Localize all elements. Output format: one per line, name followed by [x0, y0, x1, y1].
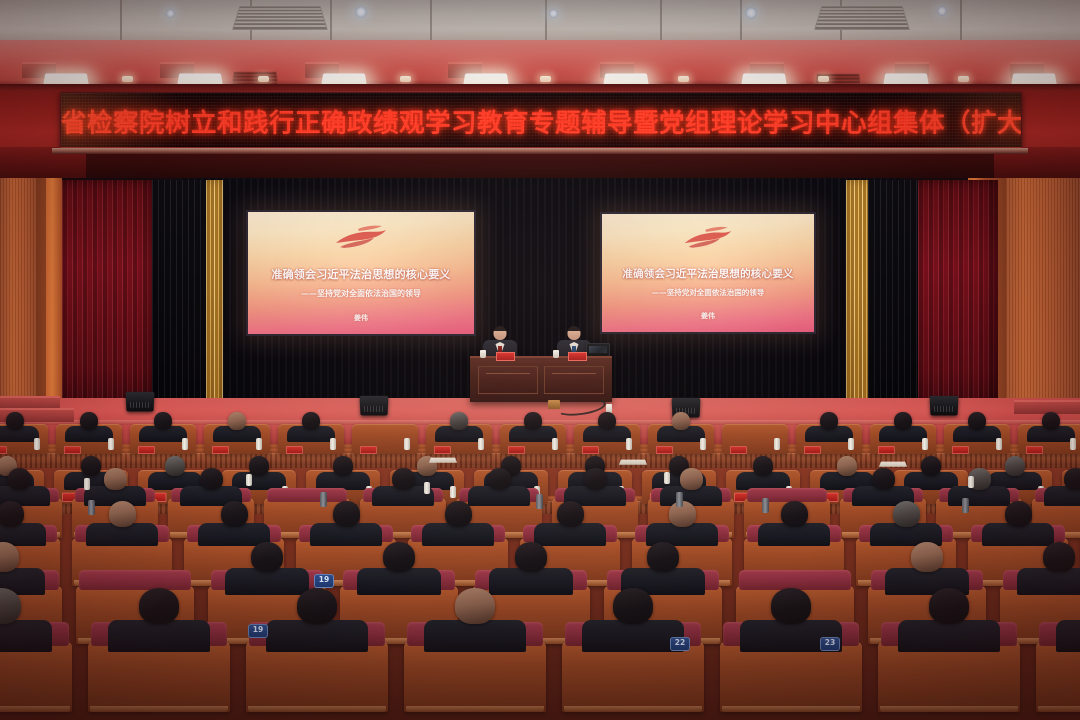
desk-water-cup: [774, 438, 780, 450]
stage-nameplate-left: [496, 352, 515, 361]
attendee-head: [911, 542, 943, 572]
attendee-head: [333, 456, 353, 476]
attendee-head: [445, 501, 472, 527]
attendee-shoulders: [582, 620, 684, 652]
desk-water-cup: [626, 438, 632, 450]
desk-nameplate: [138, 446, 155, 454]
stage-nameplate-right: [568, 352, 587, 361]
attendee-head: [251, 542, 283, 572]
attendee-shoulders: [898, 620, 1000, 652]
chair-cushion: [747, 488, 827, 502]
desk-water-cup: [848, 438, 854, 450]
ceiling-downlight-2: [549, 9, 558, 18]
ceiling-seam-8: [960, 0, 962, 42]
attendee-head: [680, 468, 703, 490]
desk-nameplate: [656, 446, 673, 454]
ceiling-panels: [0, 0, 1080, 42]
ceiling-vent-1: [814, 6, 910, 30]
desk-nameplate: [64, 446, 81, 454]
thermos-0: [320, 492, 327, 507]
thermos-5: [88, 500, 95, 515]
desk-nameplate: [212, 446, 229, 454]
desk-nameplate: [434, 446, 451, 454]
floor-monitor-0: [125, 392, 154, 412]
desk-water-cup: [330, 438, 336, 450]
desk-nameplate: [360, 446, 377, 454]
seat-number-badge: 22: [670, 637, 690, 651]
ceiling-seam-3: [430, 0, 432, 42]
slide-author-left: 姜伟: [248, 313, 474, 323]
desk-papers-1: [619, 460, 647, 465]
desk-nameplate: [508, 446, 525, 454]
water-cup-0: [84, 478, 90, 490]
slide-title-right: 准确领会习近平法治思想的核心要义: [602, 266, 814, 281]
attendee-head: [753, 456, 773, 476]
chair-back: [878, 642, 1020, 712]
attendee-head: [613, 588, 653, 624]
stage-connector-box: [548, 400, 560, 409]
attendee-shoulders: [0, 620, 52, 652]
attendee-head: [1005, 501, 1032, 527]
thermos-3: [762, 498, 769, 513]
attendee-head: [598, 412, 616, 430]
attendee-head: [302, 412, 320, 430]
ceiling-accent-light-3: [540, 76, 551, 82]
led-glow-left: [61, 93, 181, 148]
proscenium-top-trim: [0, 84, 1080, 91]
attendee-shoulders: [1056, 620, 1080, 652]
attendee-head: [297, 588, 337, 624]
desk-water-cup: [922, 438, 928, 450]
chair-top-rail: [880, 706, 1018, 712]
attendee-shoulders: [1017, 568, 1080, 595]
attendee-head: [872, 468, 895, 490]
thermos-2: [676, 492, 683, 507]
podium-front-panel-left: [478, 366, 538, 394]
chair-top-rail: [406, 706, 544, 712]
desk-water-cup: [256, 438, 262, 450]
attendee-head: [1042, 412, 1060, 430]
attendee-head: [221, 501, 248, 527]
red-ribbon-emblem-right: [681, 225, 735, 250]
chair-cushion: [267, 488, 347, 502]
attendee-head: [1064, 468, 1080, 490]
attendee-head: [333, 501, 360, 527]
desk-papers-2: [879, 462, 907, 467]
attendee-head: [771, 588, 811, 624]
chair-back: [720, 642, 862, 712]
attendee-shoulders: [424, 620, 526, 652]
attendee-head: [837, 456, 857, 476]
chair-cushion: [79, 570, 191, 590]
ceiling-seam-6: [740, 0, 742, 42]
official-head: [568, 326, 581, 340]
desk-nameplate: [878, 446, 895, 454]
auditorium-photo: 省检察院树立和践行正确政绩观学习教育专题辅导暨党组理论学习中心组集体（扩大）学习: [0, 0, 1080, 720]
desk-water-cup: [182, 438, 188, 450]
attendee-head: [929, 588, 969, 624]
desk-water-cup: [996, 438, 1002, 450]
curtain-gold-left: [206, 180, 223, 410]
attendee-shoulders: [225, 568, 310, 595]
chair-cushion: [739, 570, 851, 590]
thermos-1: [536, 494, 543, 509]
thermos-4: [962, 498, 969, 513]
attendee-head: [81, 456, 101, 476]
ceiling-seam-5: [660, 0, 662, 42]
ceiling-accent-light-5: [818, 76, 829, 82]
chair-top-rail: [90, 706, 228, 712]
ceiling-downlight-0: [166, 9, 175, 18]
desk-water-cup: [1070, 438, 1076, 450]
led-banner-display: 省检察院树立和践行正确政绩观学习教育专题辅导暨党组理论学习中心组集体（扩大）学习: [60, 92, 1022, 149]
slide-subtitle-right: ——坚持党对全面依法治国的领导: [602, 287, 814, 298]
attendee-head: [154, 412, 172, 430]
chair-back: [1036, 642, 1080, 712]
projection-screen-right: 准确领会习近平法治思想的核心要义 ——坚持党对全面依法治国的领导 姜伟: [602, 214, 814, 332]
attendee-head: [139, 588, 179, 624]
water-cup-2: [664, 472, 670, 484]
desk-nameplate: [286, 446, 303, 454]
water-cup-1: [246, 474, 252, 486]
slide-author-right: 姜伟: [602, 311, 814, 321]
attendee-shoulders: [489, 568, 574, 595]
projection-screen-left: 准确领会习近平法治思想的核心要义 ——坚持党对全面依法治国的领导 姜伟: [248, 212, 474, 334]
attendee-head: [584, 468, 607, 490]
floor-monitor-1: [359, 396, 388, 416]
chair-top-rail: [248, 706, 386, 712]
chair-top-rail: [564, 706, 702, 712]
attendee-shoulders: [266, 620, 368, 652]
chair-top-rail: [1038, 706, 1080, 712]
ceiling-seam-0: [120, 0, 122, 42]
desk-nameplate: [0, 446, 7, 454]
seat-number-badge: 19: [248, 624, 268, 638]
ceiling-downlight-4: [937, 6, 947, 16]
attendee-head: [6, 412, 24, 430]
attendee-head: [968, 412, 986, 430]
attendee-head: [781, 501, 808, 527]
water-cup-right: [553, 350, 559, 358]
floor-monitor-3: [929, 396, 958, 416]
attendee-head: [455, 588, 495, 624]
attendee-head: [104, 468, 127, 490]
speaker-table: [470, 356, 612, 402]
attendee-head: [0, 501, 24, 527]
attendee-head: [893, 501, 920, 527]
attendee-head: [109, 501, 136, 527]
ceiling-downlight-1: [355, 6, 367, 18]
desk-water-cup: [700, 438, 706, 450]
attendee-head: [515, 542, 547, 572]
ceiling-accent-light-6: [958, 76, 969, 82]
ceiling-accent-light-4: [678, 76, 689, 82]
ceiling-accent-light-1: [258, 76, 269, 82]
attendee-head: [524, 412, 542, 430]
red-ribbon-emblem-left: [332, 224, 390, 250]
slide-title-left: 准确领会习近平法治思想的核心要义: [248, 266, 474, 282]
chair-back: [246, 642, 388, 712]
desk-water-cup: [450, 486, 456, 498]
attendee-head: [488, 468, 511, 490]
curtain-dark-red-left: [62, 180, 158, 422]
desk-water-cup: [404, 438, 410, 450]
attendee-shoulders: [108, 620, 210, 652]
chair-back: [404, 642, 546, 712]
curtain-black-left: [152, 180, 214, 418]
ceiling-accent-light-2: [400, 76, 411, 82]
desk-papers-0: [429, 458, 457, 463]
wood-pillar-left: [46, 178, 62, 428]
attendee-head: [820, 412, 838, 430]
chair-back: [88, 642, 230, 712]
chair-back: [0, 642, 72, 712]
attendee-head: [647, 542, 679, 572]
attendee-head: [921, 456, 941, 476]
attendee-head: [392, 468, 415, 490]
desk-water-cup: [108, 438, 114, 450]
water-cup-left: [480, 350, 486, 358]
ceiling-downlight-3: [745, 7, 757, 19]
official-head: [494, 326, 507, 340]
curtain-black-right: [868, 180, 924, 418]
attendee-head: [383, 542, 415, 572]
attendee-head: [8, 468, 31, 490]
attendee-head: [249, 456, 269, 476]
desk-nameplate: [730, 446, 747, 454]
curtain-dark-red-right: [918, 180, 998, 426]
ceiling-seam-2: [330, 0, 332, 42]
podium-front-panel-right: [544, 366, 604, 394]
water-cup-4: [424, 482, 430, 494]
attendee-head: [228, 412, 246, 430]
desk-water-cup: [552, 438, 558, 450]
banner-headline-text: 省检察院树立和践行正确政绩观学习教育专题辅导暨党组理论学习中心组集体（扩大）学习: [61, 102, 1021, 139]
attendee-head: [165, 456, 185, 476]
slide-subtitle-left: ——坚持党对全面依法治国的领导: [248, 288, 474, 299]
ceiling-accent-light-0: [122, 76, 133, 82]
attendee-head: [557, 501, 584, 527]
attendee-head: [1005, 456, 1025, 476]
desk-nameplate: [804, 446, 821, 454]
water-cup-3: [968, 476, 974, 488]
attendee-head: [200, 468, 223, 490]
chair-back: [562, 642, 704, 712]
chair-top-rail: [722, 706, 860, 712]
ceiling-vent-0: [232, 6, 328, 30]
attendee-head: [450, 412, 468, 430]
seat-number-badge: 23: [820, 637, 840, 651]
desk-nameplate: [582, 446, 599, 454]
attendee-shoulders: [357, 568, 442, 595]
desk-water-cup: [478, 438, 484, 450]
attendee-head: [894, 412, 912, 430]
attendee-head: [1043, 542, 1075, 572]
desk-nameplate: [952, 446, 969, 454]
chair-top-rail: [0, 706, 70, 712]
attendee-head: [80, 412, 98, 430]
led-glow-right: [901, 93, 1021, 148]
ceiling-seam-4: [545, 0, 547, 42]
seat-number-badge: 19: [314, 574, 334, 588]
desk-water-cup: [34, 438, 40, 450]
attendee-head: [672, 412, 690, 430]
desk-nameplate: [1026, 446, 1043, 454]
